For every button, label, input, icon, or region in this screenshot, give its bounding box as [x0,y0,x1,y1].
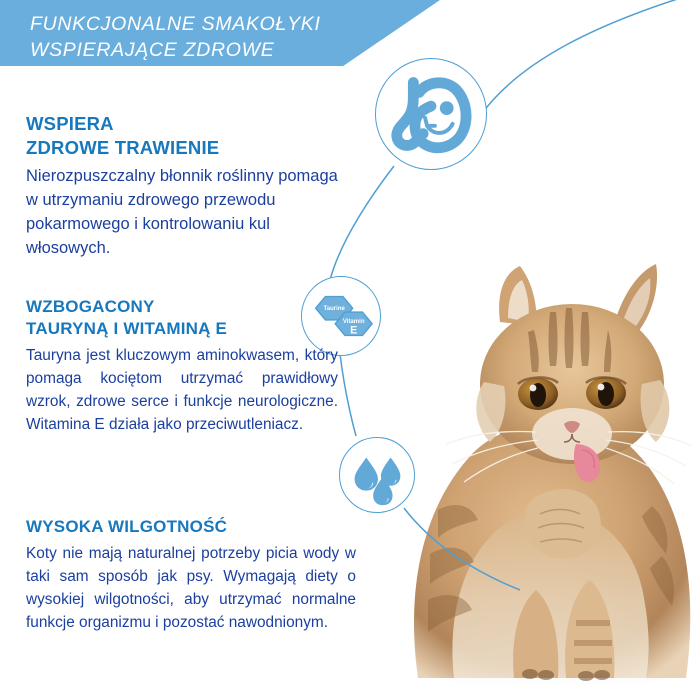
heading-line2: ZDROWE TRAWIENIE [26,136,338,160]
block-body-digestion: Nierozpuszczalny błonnik roślinny pomaga… [26,164,338,260]
stomach-icon [375,58,487,170]
block-heading-taurine: WZBOGACONY TAURYNĄ I WITAMINĄ E [26,296,338,340]
header-title: FUNKCJONALNE SMAKOŁYKI WSPIERAJĄCE ZDROW… [30,11,430,63]
cat-photo [380,238,700,700]
heading-line1: WZBOGACONY [26,296,338,318]
water-droplets-icon [339,437,415,513]
block-body-taurine: Tauryna jest kluczowym aminokwasem, któr… [26,344,338,436]
header-title-line2: WSPIERAJĄCE ZDROWE [30,37,430,63]
heading-line1: WYSOKA WILGOTNOŚĆ [26,516,356,538]
header-title-line1: FUNKCJONALNE SMAKOŁYKI [30,11,430,37]
block-heading-digestion: WSPIERA ZDROWE TRAWIENIE [26,112,338,160]
feature-block-taurine: WZBOGACONY TAURYNĄ I WITAMINĄ E Tauryna … [26,296,338,436]
block-heading-moisture: WYSOKA WILGOTNOŚĆ [26,516,356,538]
heading-line2: TAURYNĄ I WITAMINĄ E [26,318,338,340]
feature-block-moisture: WYSOKA WILGOTNOŚĆ Koty nie mają naturaln… [26,516,356,634]
feature-block-digestion: WSPIERA ZDROWE TRAWIENIE Nierozpuszczaln… [26,112,338,260]
hex-label-e: E [350,325,357,337]
heading-line1: WSPIERA [26,112,338,136]
block-body-moisture: Koty nie mają naturalnej potrzeby picia … [26,542,356,634]
